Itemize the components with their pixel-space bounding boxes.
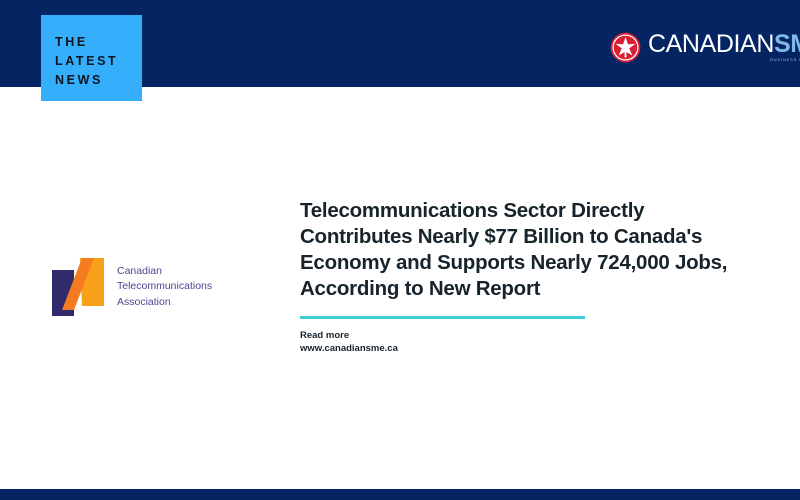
latest-news-badge-line-3: NEWS [55,71,142,90]
brand-name-canadian: CANADIAN [648,30,774,58]
association-name-line-2: Telecommunications [117,279,212,295]
latest-news-badge-line-2: LATEST [55,52,142,71]
association-name-line-3: Association [117,295,212,311]
canadiansme-logo[interactable]: CANADIANSME BUSINESS MAGAZINE [610,27,800,67]
latest-news-badge: THE LATEST NEWS [41,15,142,101]
association-name-line-1: Canadian [117,264,212,280]
canadiansme-name: CANADIANSME [648,32,800,57]
page-title: Telecommunications Sector Directly Contr… [300,198,730,302]
news-card-page: THE LATEST NEWS CANADIANSME BUSINESS MAG… [0,0,800,500]
read-more-label: Read more [300,329,730,342]
headline-divider [300,316,585,319]
maple-leaf-star-badge-icon [610,32,641,63]
website-url-link[interactable]: www.canadiansme.ca [300,342,730,355]
read-more-block[interactable]: Read more www.canadiansme.ca [300,329,730,355]
footer-bar [0,489,800,500]
brand-name-sme: SME [774,30,800,58]
association-name: Canadian Telecommunications Association [117,264,212,311]
brand-tagline: BUSINESS MAGAZINE [648,58,800,62]
latest-news-badge-line-1: THE [55,33,142,52]
canadiansme-wordmark: CANADIANSME BUSINESS MAGAZINE [648,32,800,62]
canadian-telecommunications-association-logo: Canadian Telecommunications Association [52,256,242,318]
canadian-telecommunications-association-mark-icon [52,258,108,316]
article-block: Telecommunications Sector Directly Contr… [300,198,730,355]
